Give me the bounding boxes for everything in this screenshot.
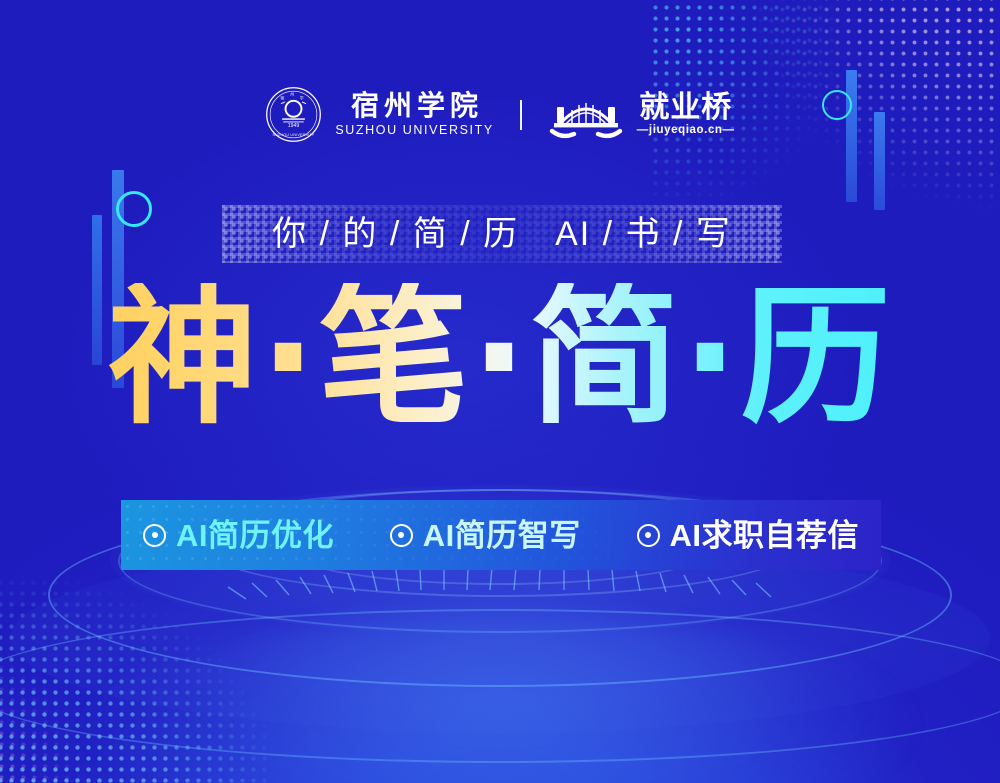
svg-text:1949: 1949: [288, 123, 300, 129]
subtitle-band: 你 / 的 / 简 / 历 AI / 书 / 写: [222, 205, 782, 263]
partner-logo[interactable]: 就业桥 —jiuyeqiao.cn—: [548, 90, 735, 140]
decor-ring-left: [116, 191, 152, 227]
feature-bar: AI简历优化 AI简历智写 AI求职自荐信: [121, 500, 881, 570]
logo-divider: [520, 100, 522, 130]
radial-tick-marks: [220, 561, 780, 625]
target-dot-icon: [143, 524, 166, 547]
promo-banner: 1949 SUZHOU UNIVERSITY 宿 州 学 宿州学院 SUZHOU…: [0, 0, 1000, 783]
feature-item-resume-optimize[interactable]: AI简历优化: [143, 520, 334, 551]
feature-label: AI简历优化: [176, 520, 334, 551]
university-name-cn: 宿州学院: [346, 93, 483, 121]
target-dot-icon: [637, 524, 660, 547]
partner-domain: —jiuyeqiao.cn—: [637, 125, 735, 137]
header-logos: 1949 SUZHOU UNIVERSITY 宿 州 学 宿州学院 SUZHOU…: [0, 86, 1000, 143]
university-seal-icon: 1949 SUZHOU UNIVERSITY 宿 州 学: [265, 86, 322, 143]
feature-item-resume-write[interactable]: AI简历智写: [390, 520, 581, 551]
svg-text:学: 学: [300, 95, 304, 101]
svg-text:州: 州: [290, 92, 294, 97]
subtitle-text: 你 / 的 / 简 / 历 AI / 书 / 写: [272, 217, 732, 251]
page-title: 神·笔·简·历: [0, 283, 1000, 433]
target-dot-icon: [390, 524, 413, 547]
university-name-en: SUZHOU UNIVERSITY: [335, 124, 493, 137]
partner-name-cn: 就业桥: [639, 93, 732, 123]
university-logo[interactable]: 1949 SUZHOU UNIVERSITY 宿 州 学 宿州学院 SUZHOU…: [265, 86, 493, 143]
feature-label: AI简历智写: [423, 520, 581, 551]
feature-label: AI求职自荐信: [670, 520, 860, 551]
svg-text:SUZHOU UNIVERSITY: SUZHOU UNIVERSITY: [273, 133, 315, 137]
bridge-icon: [548, 90, 624, 140]
feature-item-cover-letter[interactable]: AI求职自荐信: [637, 520, 860, 551]
svg-text:宿: 宿: [281, 95, 285, 101]
